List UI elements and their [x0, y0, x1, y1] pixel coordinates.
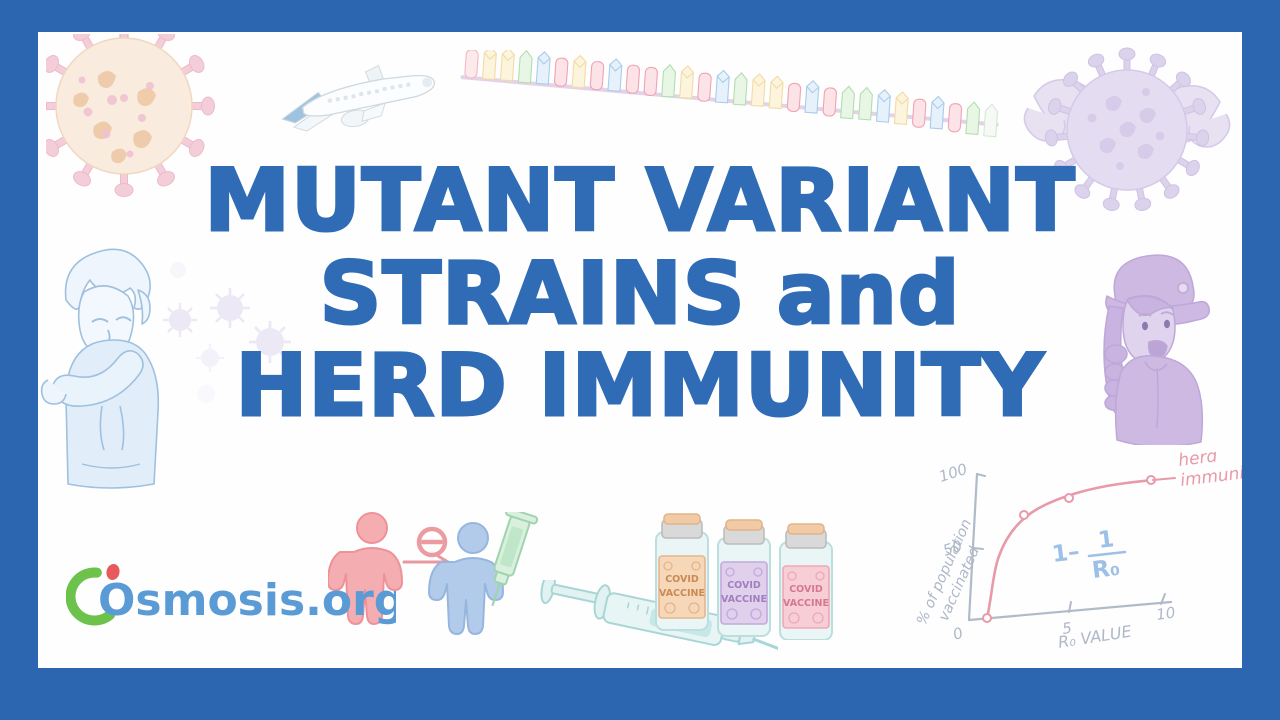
title-block: MUTANT VARIANT STRAINS and HERD IMMUNITY	[38, 160, 1242, 428]
title-line-2: STRAINS and	[38, 253, 1242, 336]
formula-numerator: 1	[1097, 526, 1116, 554]
svg-text:VACCINE: VACCINE	[783, 598, 829, 609]
osmosis-logo[interactable]: Osmosis.org	[66, 560, 396, 628]
formula-lead: 1–	[1051, 539, 1081, 568]
coronavirus-particle-purple-flexing-icon	[1022, 44, 1232, 214]
svg-text:VACCINE: VACCINE	[659, 588, 705, 599]
ytick-label-0: 0	[951, 624, 966, 644]
rna-nucleotide-strand-icon	[458, 50, 1003, 140]
ytick-100	[977, 474, 985, 476]
vial-2: COVID VACCINE	[718, 520, 770, 636]
osmosis-wordmark: Osmosis.org	[98, 575, 396, 626]
faint-virus-particles-icon	[158, 262, 328, 412]
slide-canvas: COVID VACCINE COVID VACCINE	[38, 32, 1242, 668]
title-line-1: MUTANT VARIANT	[38, 160, 1242, 243]
title-line-3: HERD IMMUNITY	[38, 345, 1242, 428]
svg-text:COVID: COVID	[727, 580, 761, 591]
title-line-2-main: STRAINS	[319, 244, 745, 344]
person-coughing-into-elbow-icon	[38, 238, 188, 498]
formula-annotation: 1– 1 R₀	[1051, 526, 1125, 584]
vial-1: COVID VACCINE	[656, 514, 708, 630]
worried-woman-with-hat-icon	[1079, 250, 1224, 445]
covid-vaccine-vials-icon: COVID VACCINE COVID VACCINE	[648, 510, 848, 640]
ytick-label-100: 100	[937, 460, 970, 486]
coronavirus-particle-peach-icon	[46, 34, 246, 214]
no-transmission-icon	[419, 529, 445, 555]
formula-denominator: R₀	[1091, 555, 1122, 584]
title-card: COVID VACCINE COVID VACCINE	[0, 0, 1280, 720]
herd-immunity-callout: herd immunity	[1153, 452, 1242, 491]
title-line-2-conj: and	[777, 244, 961, 344]
svg-text:VACCINE: VACCINE	[721, 594, 767, 605]
syringe-icon	[528, 580, 778, 668]
xtick-label-10: 10	[1155, 603, 1176, 623]
svg-text:COVID: COVID	[665, 574, 699, 585]
herd-immunity-chart: 100 50 0 5 10 % of population vaccinated…	[903, 452, 1242, 668]
vial-3: COVID VACCINE	[780, 524, 832, 640]
airplane-icon	[266, 54, 446, 144]
svg-text:COVID: COVID	[789, 584, 823, 595]
